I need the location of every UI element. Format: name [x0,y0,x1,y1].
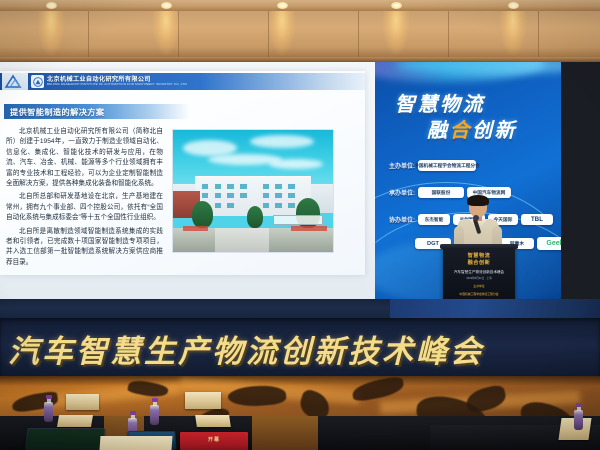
carpet-motif [464,383,508,414]
photo-window [202,193,208,198]
title-part-right: 创新 [472,120,517,142]
sponsor-logo: TBL [521,214,553,225]
downlight-icon [391,2,402,9]
photo-window [275,184,281,189]
title-part-left: 融 [427,120,450,142]
podium-detail: 2019年8月22日 · 上海 [449,277,509,281]
photo-road [215,228,269,252]
sponsor-tier-label: 协办单位: [389,215,415,224]
slide-paragraph: 北自所总部和研发基地设在北京，生产基地建在常州，拥有九个事业部、四个控股公司，依… [6,192,163,223]
tablet-device[interactable] [25,428,105,450]
photo-window [263,193,269,198]
wall-panel-seam [538,11,539,59]
bottle-cap [152,398,158,402]
sponsor-logo-label: TBL [531,217,543,223]
podium-sign: 智慧物流 融合创新 汽车智慧生产物流创新技术峰会 2019年8月22日 · 上海… [449,253,509,305]
table-gap [252,416,272,450]
slide-section-heading: 提供智能制造的解决方案 [4,104,189,119]
water-bottle [574,403,583,430]
photo-cloud [269,159,323,169]
sponsor-logo: Geek+ [537,237,561,250]
carpet-shadow [0,376,600,386]
podium-top-surface [440,244,518,249]
bottle-cap [576,403,582,407]
photo-tree [247,206,263,228]
company-emblem-icon [31,75,44,88]
bottle-body [150,405,159,425]
name-card-tent [195,415,231,427]
podium-block: 主办单位 [449,284,509,288]
photo-window [240,193,246,198]
photo-window [215,203,221,208]
sponsor-logo: 中国机械工程学会物流工程分会 [418,160,476,171]
ceiling-light-glow [31,11,71,59]
photo-window [288,193,294,198]
tablet-screen [26,429,104,449]
ceiling-light-glow [146,11,186,59]
ceiling-light-glow [493,11,533,59]
event-title-line2: 融合创新 [427,114,517,143]
paper-sheet [100,436,173,450]
slide-heading-text: 提供智能制造的解决方案 [4,106,104,118]
sponsor-logo-label: 东杰智能 [425,217,444,223]
bottle-body [574,410,583,430]
photo-building-sign [273,215,323,226]
bottle-cap [130,411,136,415]
bottle-cap [46,395,52,399]
photo-cloud [183,140,237,156]
slide-paragraph: 北自所是离散制造领域智能制造系统集成的实践者和引领者，已完成数十项国家智能制造专… [6,227,163,269]
sponsor-logo: 东杰智能 [418,214,450,225]
photo-window [227,184,233,189]
downlight-icon [277,2,288,9]
water-bottle [44,395,53,422]
sponsor-tier-label: 承办单位: [389,188,415,197]
downlight-icon [161,2,172,9]
photo-window [215,184,221,189]
wall-panel-seam [448,11,449,59]
ceiling-light-glow [262,11,302,59]
projected-slide: 北京机械工业自动化研究所有限公司 BEIJING RESEARCH INSTIT… [0,71,365,275]
red-booklet[interactable]: 开幕 [180,432,248,450]
photo-window [215,193,221,198]
sponsor-logo-label: DGT [427,241,439,247]
table-gap [268,416,318,450]
photo-window [227,193,233,198]
conference-photo-scene: 北京机械工业自动化研究所有限公司 BEIJING RESEARCH INSTIT… [0,0,600,450]
photo-flowerbed [291,226,326,231]
photo-tree [192,201,213,228]
sponsor-tier-host: 主办单位: 中国机械工程学会物流工程分会 [389,160,476,171]
downlight-icon [508,2,519,9]
speaker-hair [467,195,489,206]
photo-window [263,184,269,189]
photo-window [288,203,294,208]
podium-block: 中国机械工程学会物流工程分会 [449,292,509,296]
red-booklet-label: 开幕 [208,436,220,443]
sponsor-logo-label: 中国机械工程学会物流工程分会 [414,163,480,169]
name-card-tent [185,392,221,409]
podium-title-line2: 融合创新 [449,260,509,267]
photo-window [288,184,294,189]
photo-window [202,184,208,189]
bottle-body [44,402,53,422]
slide-body-text: 北京机械工业自动化研究所有限公司（简称北自所）创建于1954年，一直致力于制造业… [6,127,163,271]
slide-paragraph: 北京机械工业自动化研究所有限公司（简称北自所）创建于1954年，一直致力于制造业… [6,127,163,189]
microphone-head-icon [473,215,479,221]
event-banner: 汽车智慧生产物流创新技术峰会 [0,318,600,378]
name-card-tent [57,415,93,427]
sponsor-tier-label: 主办单位: [389,161,415,170]
podium-title-line1: 智慧物流 [449,253,509,260]
photo-window [227,203,233,208]
photo-window [263,203,269,208]
slide-company-name-en: BEIJING RESEARCH INSTITUTE OF AUTOMATION… [47,82,187,86]
downlight-icon [46,2,57,9]
wall-panel-seam [358,11,359,59]
photo-flowerbed [183,226,209,231]
photo-window [240,184,246,189]
name-card-tent [66,394,99,410]
event-banner-text: 汽车智慧生产物流创新技术峰会 [0,326,484,371]
ceiling-light-glow [376,11,416,59]
water-bottle [150,398,159,425]
institute-mark-icon [2,73,28,90]
wall-panel-seam [88,11,89,59]
title-part-accent: 合 [450,120,473,142]
photo-window [275,203,281,208]
slide-building-photo [172,129,334,253]
podium-subtitle: 汽车智慧生产物流创新技术峰会 [449,270,509,275]
sponsor-logo-label: Geek+ [546,240,561,247]
sponsor-logo-label: 国联股份 [432,190,451,196]
photo-window [275,193,281,198]
event-title-line1: 智慧物流 [395,88,485,117]
